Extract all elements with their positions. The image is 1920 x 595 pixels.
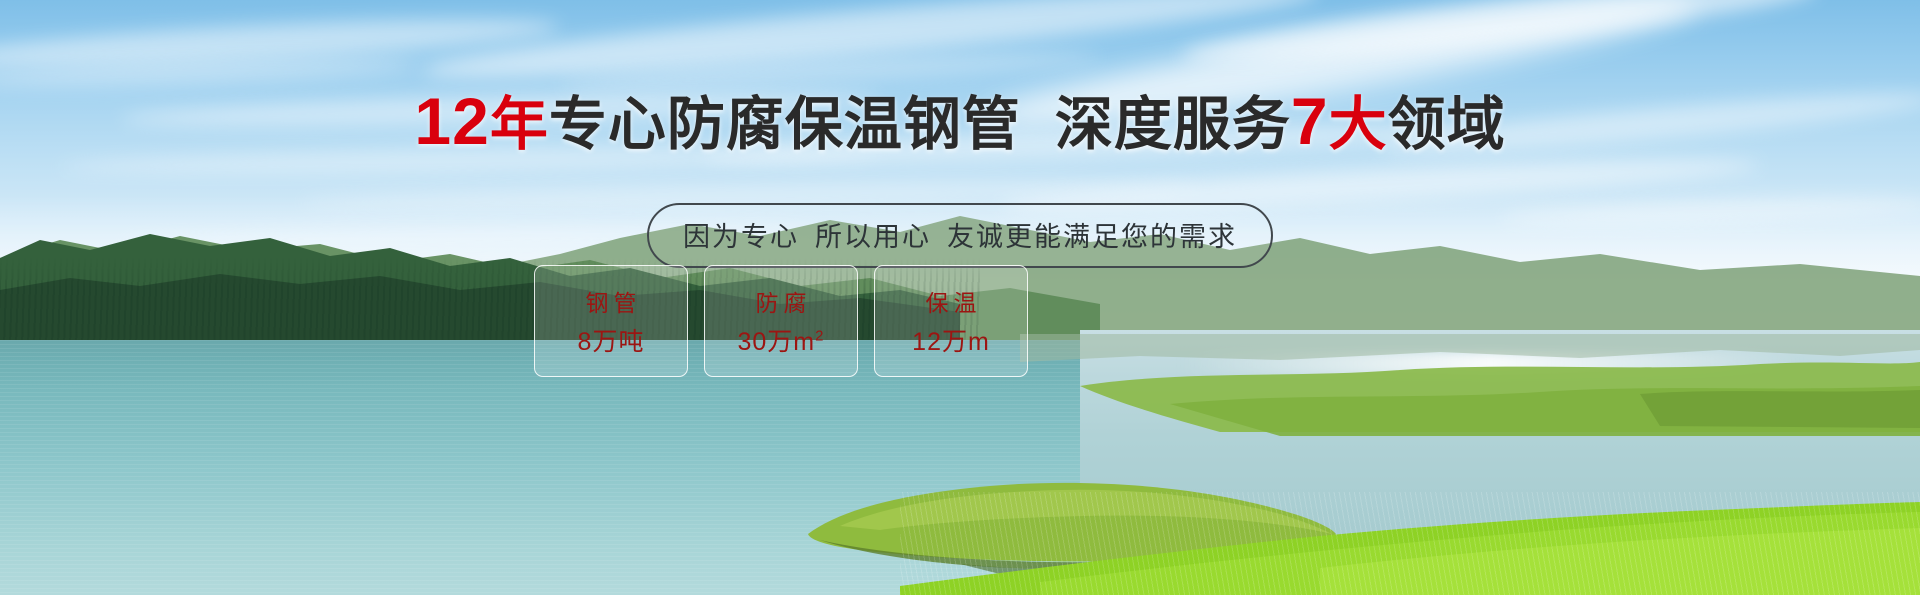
stat-card-title: 防腐 [751,284,812,318]
headline-segment-2: 深度服务 [1055,92,1291,157]
stat-card-value-text: 8万吨 [578,328,645,356]
stat-card-anticorrosion[interactable]: 防腐 30万m2 [704,265,858,377]
subtitle-pill: 因为专心所以用心友诚更能满足您的需求 [647,203,1273,268]
stat-card-value: 30万m2 [738,322,825,358]
stat-card-title: 保温 [921,284,982,318]
banner-headline: 12年专心防腐保温钢管深度服务7大领域 [0,88,1920,154]
stat-card-title: 钢管 [581,284,642,318]
stat-card-value-text: 30万m [738,328,816,356]
headline-segment-3: 领域 [1388,92,1506,157]
stat-card-value: 8万吨 [578,322,645,358]
stat-card-group: 钢管 8万吨 防腐 30万m2 保温 12万m [534,265,1028,377]
hero-banner: 12年专心防腐保温钢管深度服务7大领域 因为专心所以用心友诚更能满足您的需求 钢… [0,0,1920,595]
marsh-shoreline [1020,300,1920,460]
headline-segment-1: 专心防腐保温钢管 [549,92,1021,157]
stat-card-value: 12万m [912,322,990,358]
stat-card-insulation[interactable]: 保温 12万m [874,265,1028,377]
headline-big: 大 [1329,92,1388,157]
headline-seven: 7 [1291,84,1329,158]
stat-card-value-sup: 2 [815,328,824,345]
subtitle-segment-2: 所以用心 [815,222,931,252]
grass-blade-texture [900,492,1920,595]
stat-card-value-text: 12万m [912,328,990,356]
headline-years-number: 12 [414,84,489,158]
headline-years-unit: 年 [490,92,549,157]
stat-card-steel-pipe[interactable]: 钢管 8万吨 [534,265,688,377]
subtitle-segment-3: 友诚更能满足您的需求 [947,222,1237,252]
subtitle-segment-1: 因为专心 [683,222,799,252]
